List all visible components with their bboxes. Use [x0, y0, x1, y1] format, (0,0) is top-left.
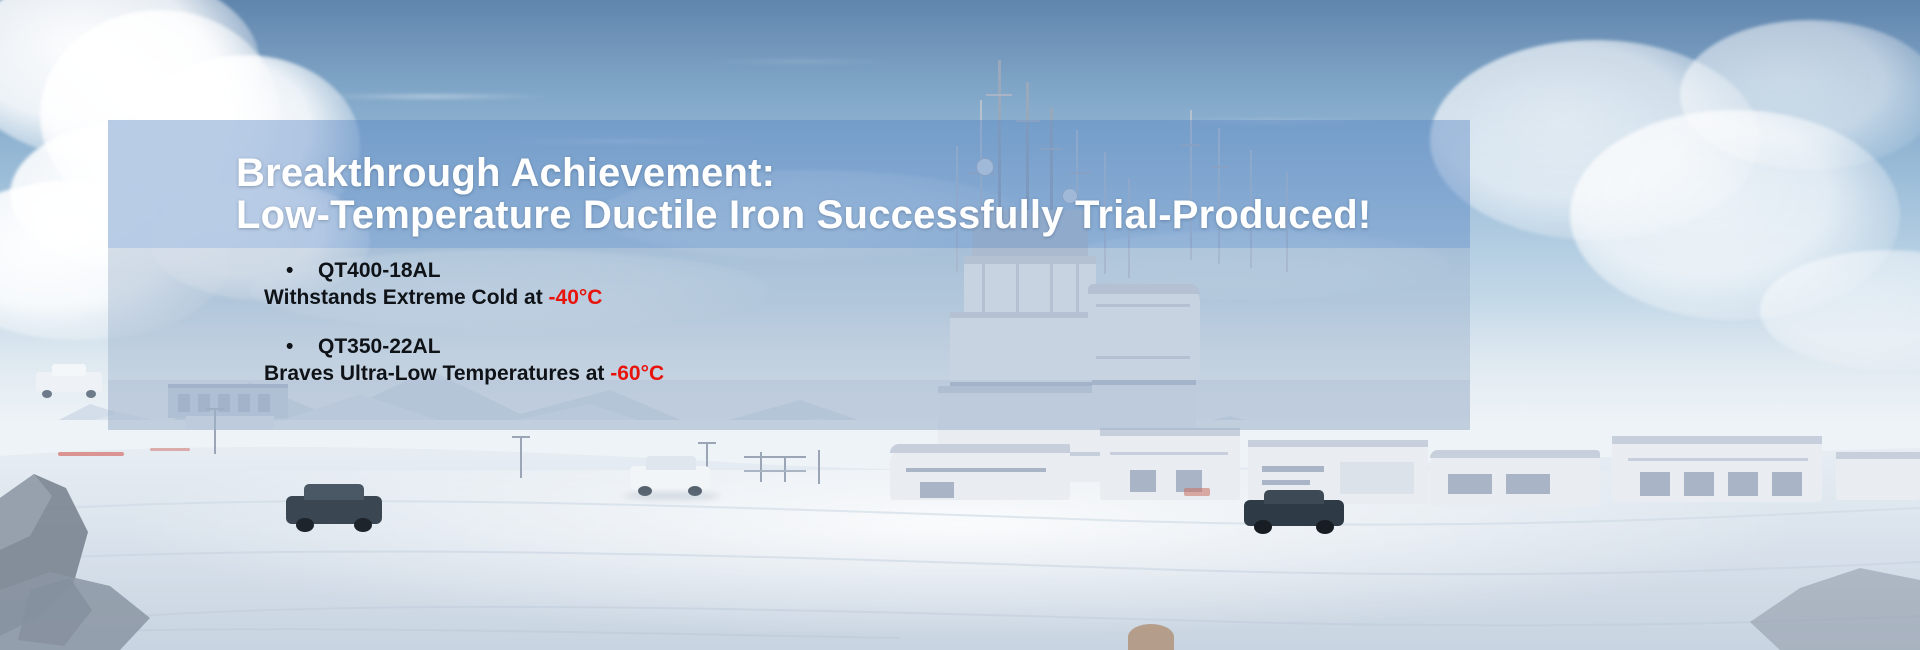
foreground-rock [0, 560, 260, 650]
foreground-rock [1720, 560, 1920, 650]
bullet-icon: • [286, 333, 296, 360]
feature-list: • QT400-18AL Withstands Extreme Cold at … [286, 257, 1386, 387]
banner-headline: Breakthrough Achievement: Low-Temperatur… [236, 154, 1456, 234]
foreground-object [1128, 624, 1174, 650]
feature-grade-row: • QT400-18AL [286, 257, 1386, 284]
feature-grade-label: QT350-22AL [318, 333, 441, 360]
feature-temperature-value: -60°C [610, 362, 664, 385]
feature-description-text: Braves Ultra-Low Temperatures at [264, 362, 610, 385]
body-band-lower [108, 380, 1470, 430]
bullet-icon: • [286, 257, 296, 284]
facility-building [1100, 428, 1240, 500]
headline-line-2: Low-Temperature Ductile Iron Successfull… [236, 196, 1456, 234]
feature-grade-label: QT400-18AL [318, 257, 441, 284]
facility-trailer [1836, 452, 1920, 500]
headline-line-1: Breakthrough Achievement: [236, 154, 1456, 192]
feature-description-row: Braves Ultra-Low Temperatures at -60°C [264, 360, 1386, 387]
utility-pole [520, 436, 522, 478]
cloud-wisp [300, 95, 560, 98]
feature-grade-row: • QT350-22AL [286, 333, 1386, 360]
feature-temperature-value: -40°C [549, 286, 603, 309]
feature-item: • QT400-18AL Withstands Extreme Cold at … [286, 257, 1386, 311]
promotional-banner: Breakthrough Achievement: Low-Temperatur… [0, 0, 1920, 650]
utility-pole [818, 450, 820, 484]
feature-item: • QT350-22AL Braves Ultra-Low Temperatur… [286, 333, 1386, 387]
cloud-wisp [700, 60, 900, 63]
content-overlay-panel: Breakthrough Achievement: Low-Temperatur… [108, 120, 1470, 430]
feature-description-text: Withstands Extreme Cold at [264, 286, 549, 309]
feature-description-row: Withstands Extreme Cold at -40°C [264, 284, 1386, 311]
utility-pole [784, 456, 786, 482]
snow-marker [1184, 488, 1210, 496]
